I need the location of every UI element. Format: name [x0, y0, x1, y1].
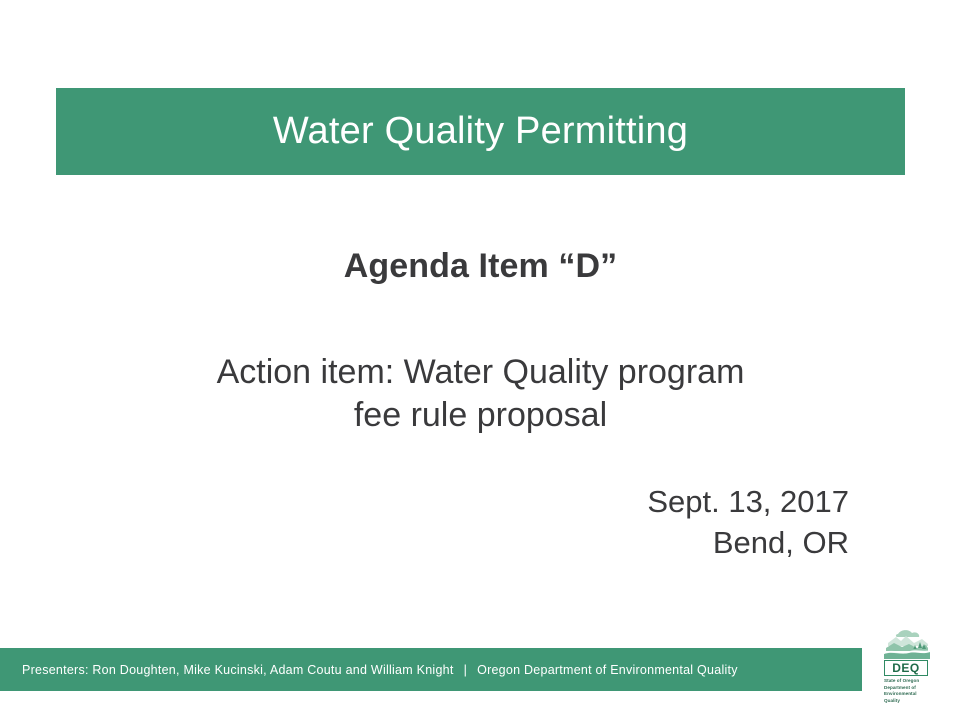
deq-tagline-line-3: Environmental — [884, 691, 930, 698]
deq-tagline: State of Oregon Department of Environmen… — [884, 678, 930, 705]
event-location: Bend, OR — [56, 523, 849, 564]
footer-bar: Presenters: Ron Doughten, Mike Kucinski,… — [0, 648, 862, 691]
deq-wordmark: DEQ — [884, 660, 928, 676]
action-item-text: Action item: Water Quality program fee r… — [56, 351, 905, 437]
footer-presenters: Presenters: Ron Doughten, Mike Kucinski,… — [22, 663, 454, 677]
event-details: Sept. 13, 2017 Bend, OR — [56, 482, 905, 564]
event-date: Sept. 13, 2017 — [56, 482, 849, 523]
title-banner: Water Quality Permitting — [56, 88, 905, 175]
deq-tagline-line-1: State of Oregon — [884, 678, 930, 685]
deq-wordmark-text: DEQ — [892, 662, 920, 674]
action-item-line-1: Action item: Water Quality program — [56, 351, 905, 394]
deq-tagline-line-4: Quality — [884, 698, 930, 705]
deq-logo: DEQ State of Oregon Department of Enviro… — [884, 628, 932, 708]
footer-organization: Oregon Department of Environmental Quali… — [477, 663, 738, 677]
slide-body: Agenda Item “D” Action item: Water Quali… — [56, 188, 905, 564]
footer-text: Presenters: Ron Doughten, Mike Kucinski,… — [0, 663, 738, 677]
oregon-landscape-icon — [884, 628, 930, 659]
deq-tagline-line-2: Department of — [884, 685, 930, 692]
agenda-item-heading: Agenda Item “D” — [56, 246, 905, 287]
presentation-slide: Water Quality Permitting Agenda Item “D”… — [0, 0, 960, 720]
slide-title: Water Quality Permitting — [273, 111, 688, 153]
action-item-line-2: fee rule proposal — [56, 394, 905, 437]
footer-separator: | — [454, 663, 478, 677]
